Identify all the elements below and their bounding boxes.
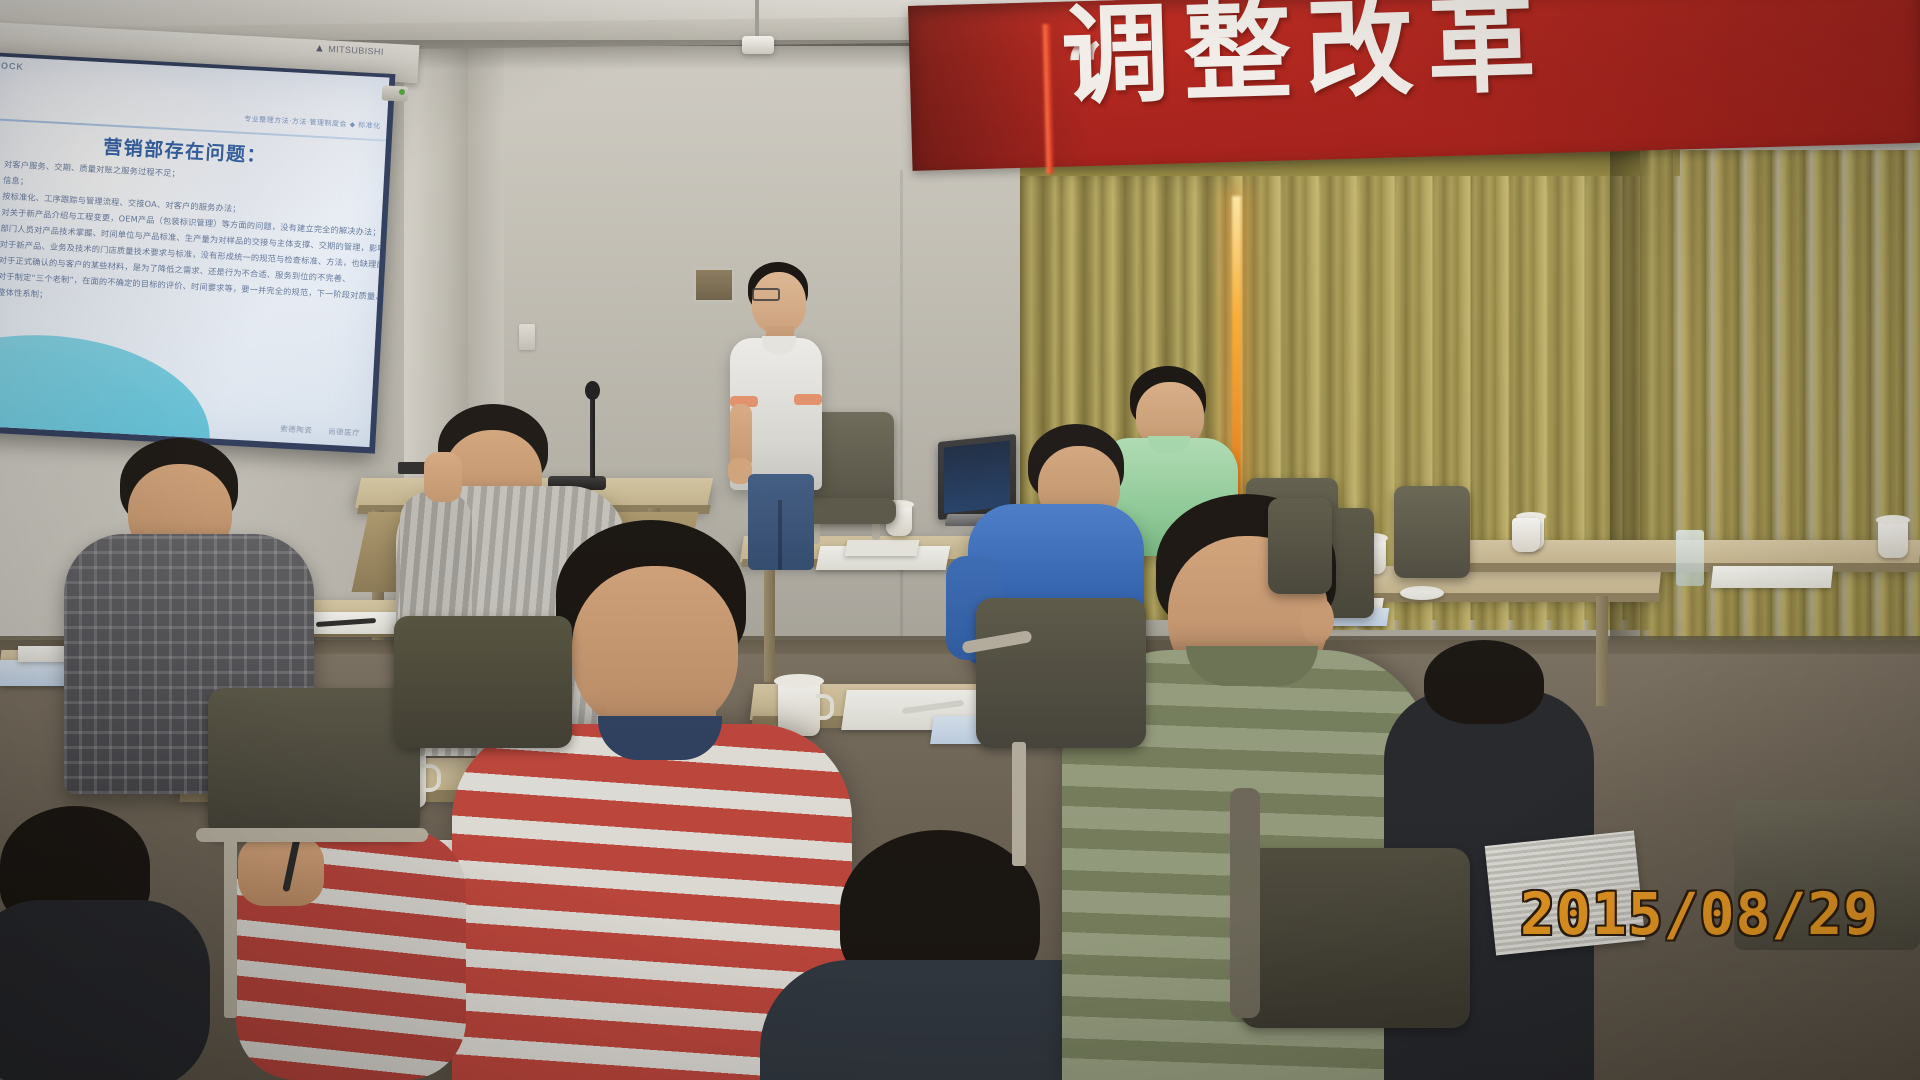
screen-brand-label: MITSUBISHI [328,44,384,57]
conference-room-photo: “ 调整改革 ▲MITSUBISHI ROCK 专业整理方法·方法·管理制度会 … [0,0,1920,1080]
glass-right [1676,530,1704,586]
slide-body: 1、对客户服务、交期、质量对账之服务过程不足； 2、信息； 3、按标准化、工序跟… [0,156,382,321]
attendee-front-left-shoulder [0,900,210,1080]
microphone-gooseneck [590,392,595,478]
chair-front-left [208,688,420,838]
wall-access-panel [694,268,734,302]
slide-kicker: 专业整理方法·方法·管理制度会 ◆ 标准化 [244,114,381,131]
slide-footer-logos: 索德陶瓷 尚德医疗 [280,423,360,438]
chair-mid-left [394,616,572,748]
chair-far-right-frame [1230,788,1260,1018]
slide-footer-logo: 索德陶瓷 [280,423,313,436]
laptop-screen [944,441,1010,514]
sensor-led-icon [399,89,405,95]
chair-right-rear [1268,498,1332,594]
notebook-far-right [1711,566,1833,588]
chair-right-edge [1394,486,1470,578]
attendee-olive-ear [1300,596,1334,644]
light-switch[interactable] [519,324,535,350]
presenter-head [752,272,806,334]
camera-date-stamp: 2015/08/29 [1520,880,1879,948]
slide-footer-logo: 尚德医疗 [328,426,361,439]
ceiling-fixture-body [742,36,774,54]
right-table-near-edge [1418,563,1920,572]
chair-front-left-leg [224,838,237,1018]
ceiling-fixture-stem [755,0,759,40]
microphone-capsule [585,381,600,400]
slide-brand-mark: ROCK [0,60,24,72]
chair-right-front-post [1012,742,1026,866]
attendee-red-stripe-hand [238,836,324,906]
banner-text: 调整改革 [1060,0,1551,112]
presenter-sleeve-trim-right [794,394,822,405]
teacup-handle [816,694,834,720]
attendee-red-stripe-collar [598,716,722,760]
attendee-stripe-hand [424,452,462,502]
teacup-far-right [1512,518,1540,552]
teacup-far-right-2 [1878,520,1908,558]
chair-far-right [1240,848,1470,1028]
notebook-page [844,540,919,556]
attendee-far-right-hair [1424,640,1544,724]
teacup-lid [1876,515,1910,525]
presenter-leg-split [778,500,782,570]
presenter-glasses-icon [752,288,780,301]
center-table-leg [764,564,775,682]
teacup-lid [774,674,824,688]
projection-screen: ROCK 专业整理方法·方法·管理制度会 ◆ 标准化 营销部存在问题： 1、对客… [0,56,389,447]
chair-right-front [976,598,1146,748]
right-table-leg [1596,596,1608,706]
mitsubishi-triangles-icon: ▲ [314,42,326,55]
saucer-right [1400,586,1444,600]
teacup-handle [422,764,441,792]
attendee-olive-collar [1186,646,1318,686]
